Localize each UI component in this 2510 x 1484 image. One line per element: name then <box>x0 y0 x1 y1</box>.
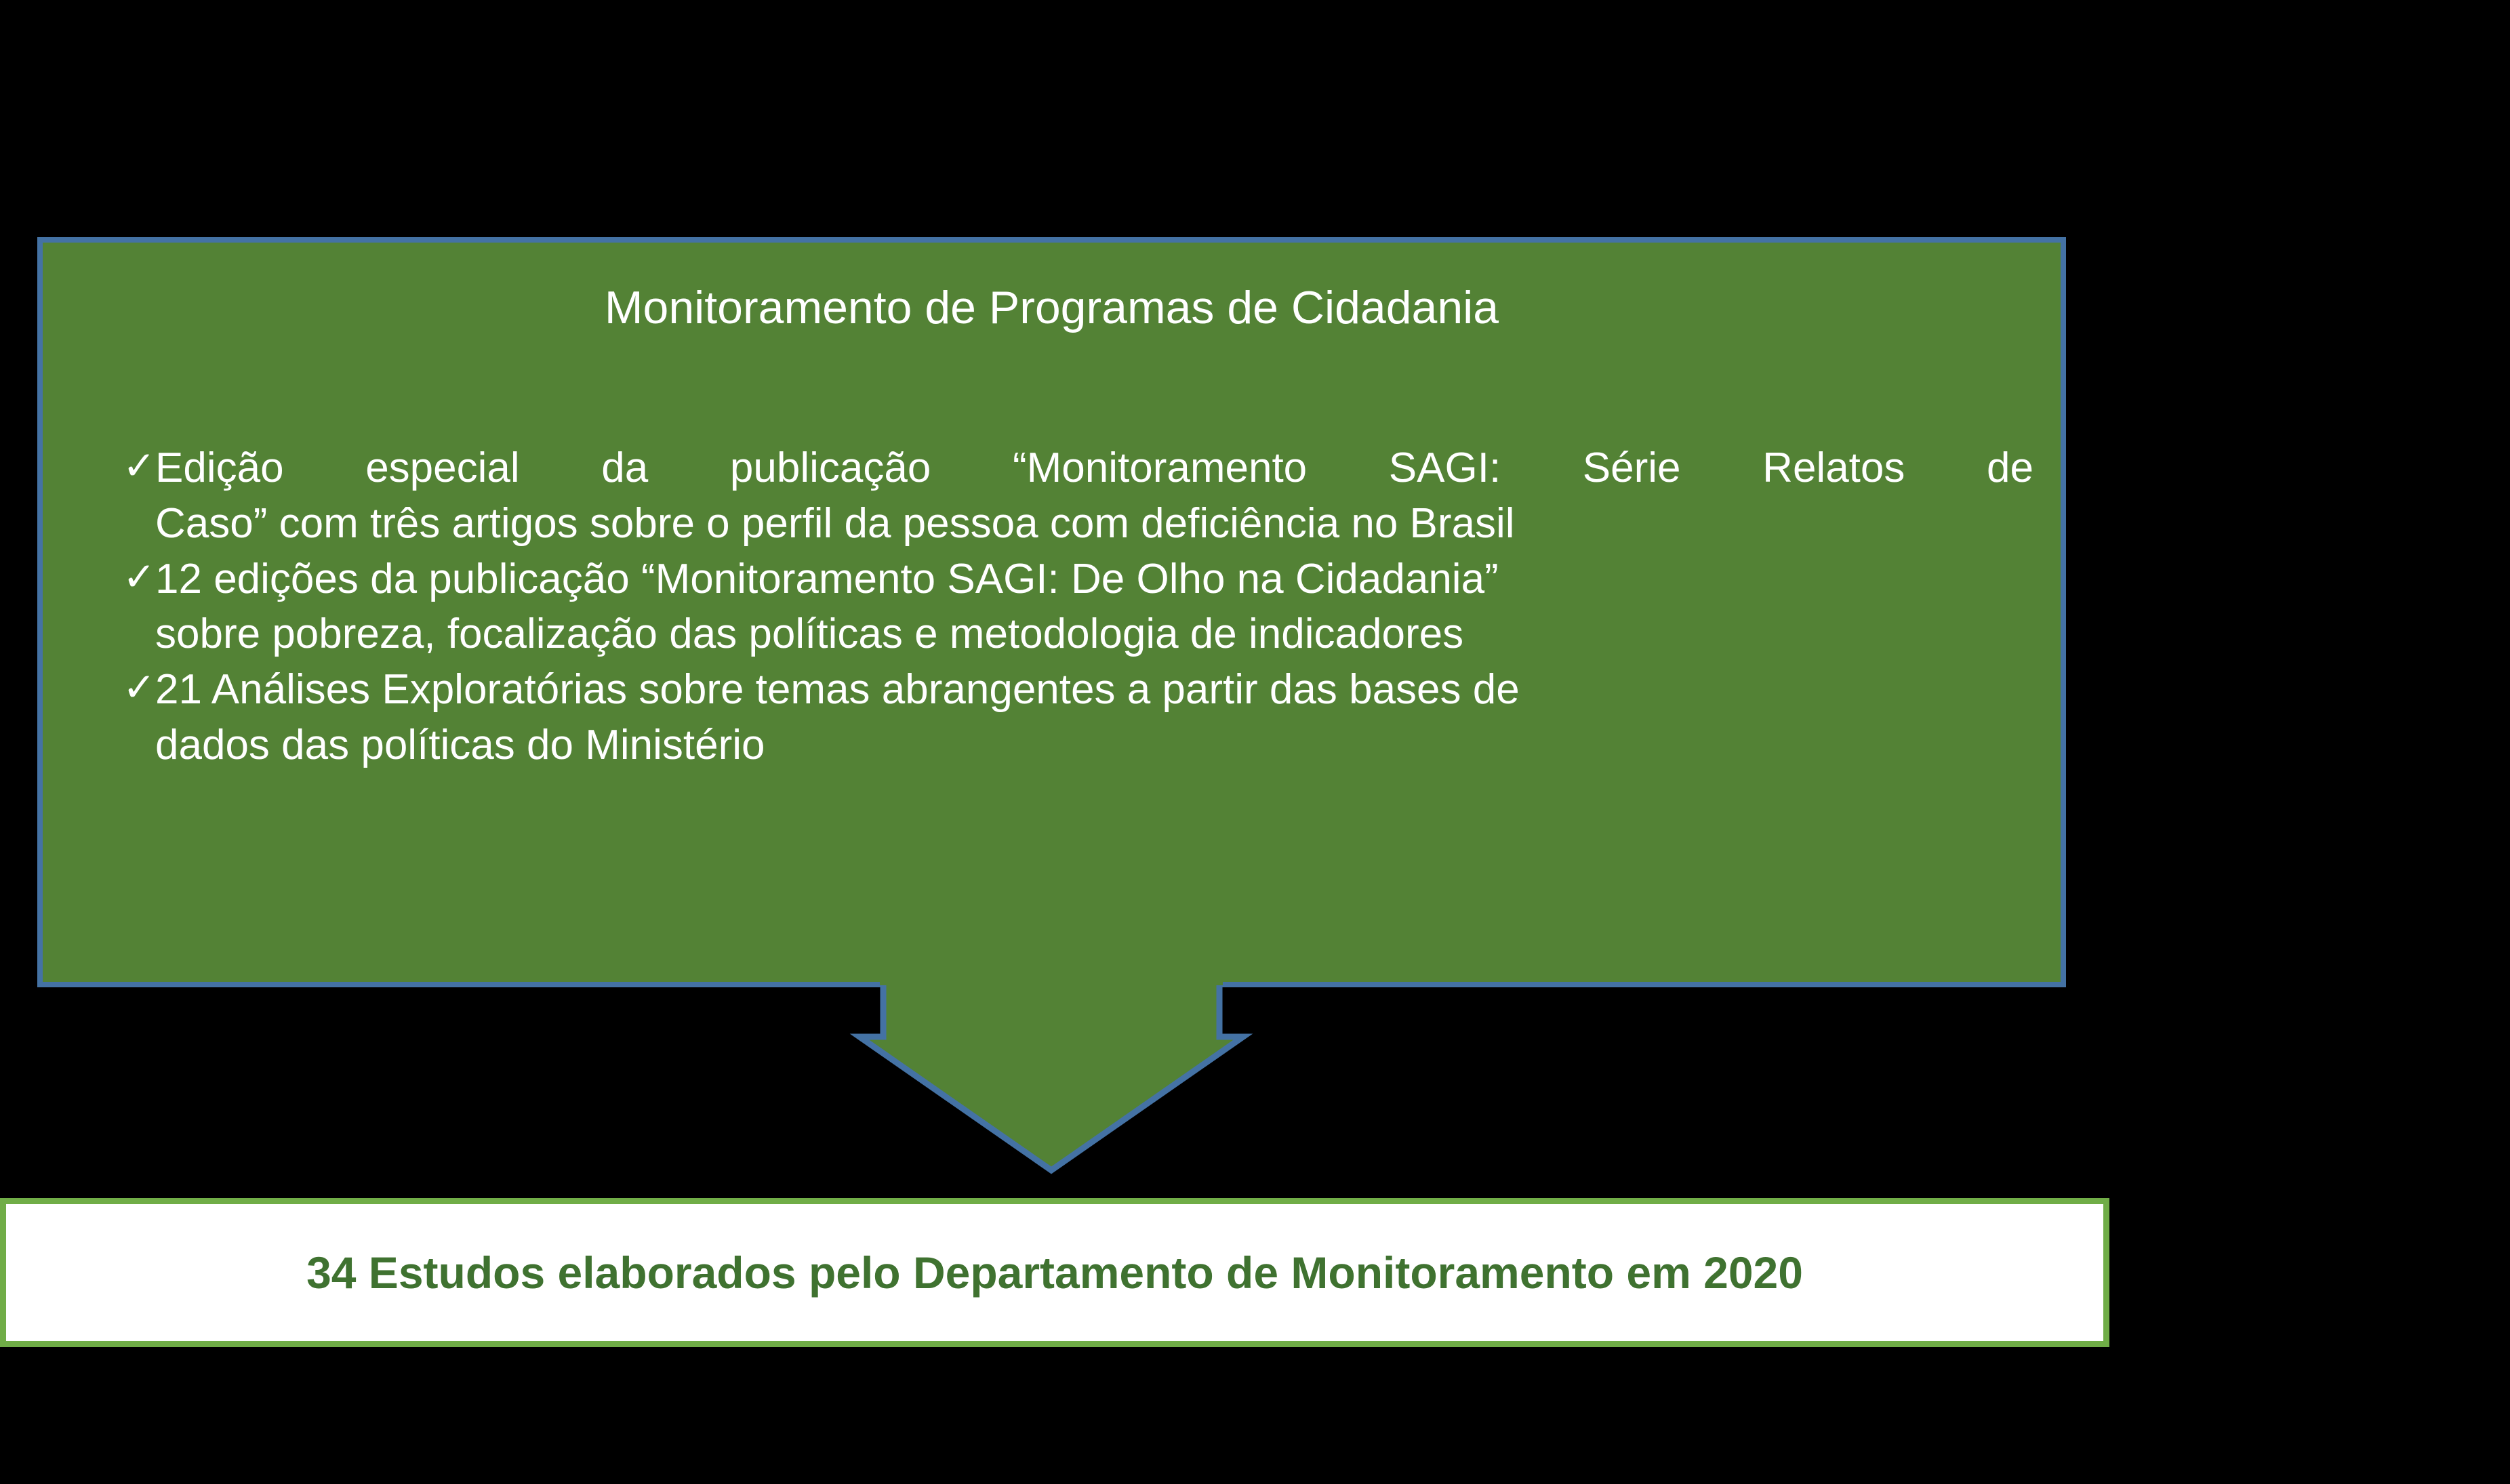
check-icon: ✓ <box>70 552 155 604</box>
list-item: ✓ 21 Análises Exploratórias sobre temas … <box>70 662 2033 773</box>
result-box-text: 34 Estudos elaborados pelo Departamento … <box>306 1250 1803 1295</box>
list-item-text: 21 Análises Exploratórias sobre temas ab… <box>155 662 2033 773</box>
down-arrow-shape <box>855 981 1247 1178</box>
result-box: 34 Estudos elaborados pelo Departamento … <box>0 1198 2109 1347</box>
slide-canvas: Monitoramento de Programas de Cidadania … <box>0 0 2510 1484</box>
check-icon: ✓ <box>70 662 155 714</box>
list-item-line: dados das políticas do Ministério <box>155 718 2033 773</box>
list-item-text: 12 edições da publicação “Monitoramento … <box>155 552 2033 663</box>
list-item-text: Edição especial da publicação “Monitoram… <box>155 440 2033 552</box>
bullet-list: ✓ Edição especial da publicação “Monitor… <box>70 440 2033 773</box>
list-item-line: Edição especial da publicação “Monitoram… <box>155 440 2033 496</box>
process-box-title: Monitoramento de Programas de Cidadania <box>43 285 2061 331</box>
list-item-line: Caso” com três artigos sobre o perfil da… <box>155 496 2033 552</box>
list-item-line: sobre pobreza, focalização das políticas… <box>155 606 2033 662</box>
down-arrow-icon <box>855 981 1247 1178</box>
list-item: ✓ Edição especial da publicação “Monitor… <box>70 440 2033 552</box>
list-item: ✓ 12 edições da publicação “Monitorament… <box>70 552 2033 663</box>
process-box: Monitoramento de Programas de Cidadania … <box>37 237 2066 987</box>
list-item-line: 12 edições da publicação “Monitoramento … <box>155 552 2033 607</box>
arrow-polygon <box>859 973 1243 1170</box>
check-icon: ✓ <box>70 440 155 493</box>
list-item-line: 21 Análises Exploratórias sobre temas ab… <box>155 662 2033 718</box>
arrow-top-cover <box>880 968 1223 985</box>
